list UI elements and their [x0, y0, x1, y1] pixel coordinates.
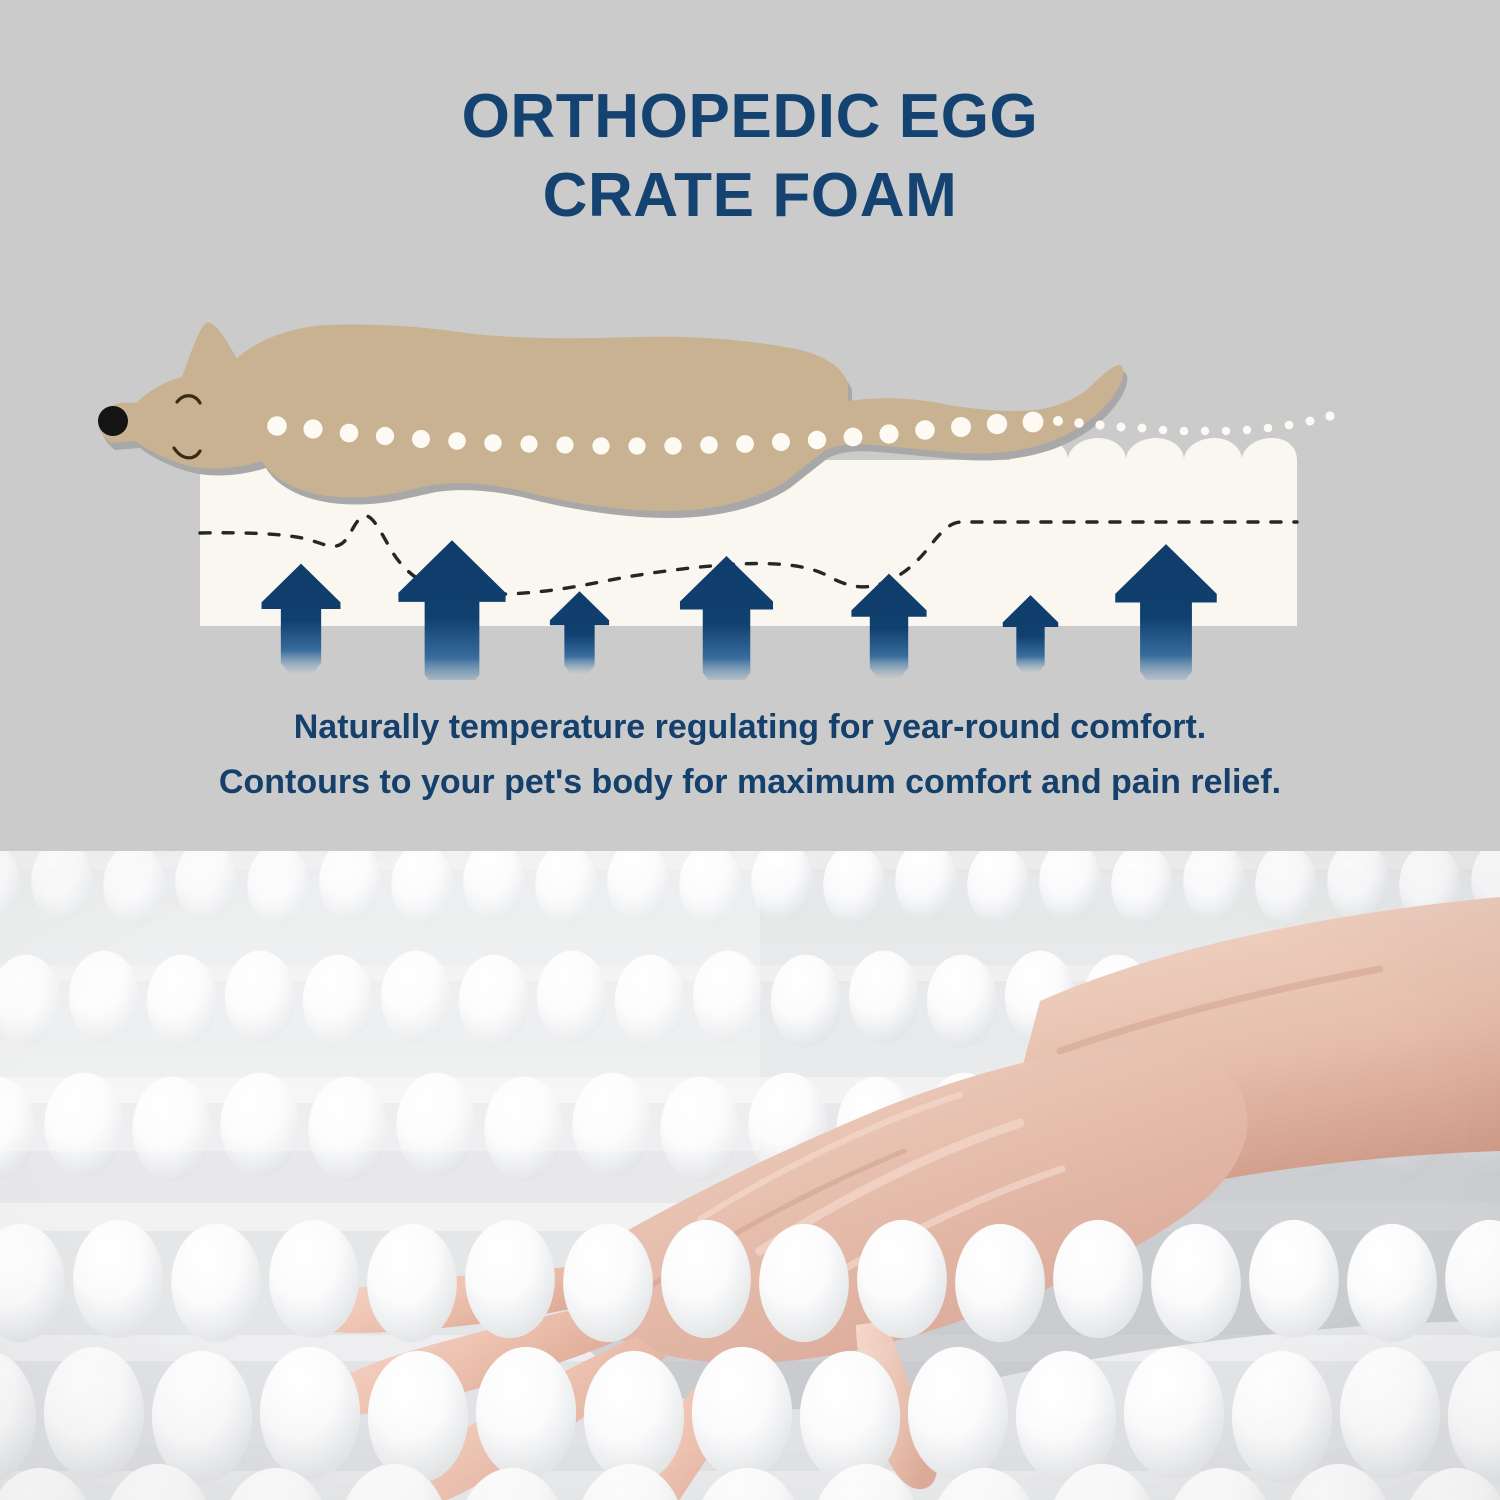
- product-photo: [0, 851, 1500, 1500]
- foam-photo-scene: [0, 851, 1500, 1500]
- headline-line-2: CRATE FOAM: [0, 157, 1500, 236]
- dog-nose: [98, 406, 128, 436]
- product-feature-graphic: ORTHOPEDIC EGG CRATE FOAM: [0, 0, 1500, 1500]
- foam-support-illustration: [0, 300, 1500, 680]
- info-panel: ORTHOPEDIC EGG CRATE FOAM: [0, 0, 1500, 851]
- caption-line-1: Naturally temperature regulating for yea…: [0, 700, 1500, 755]
- caption-line-2: Contours to your pet's body for maximum …: [0, 755, 1500, 810]
- page-title: ORTHOPEDIC EGG CRATE FOAM: [0, 78, 1500, 235]
- headline-line-1: ORTHOPEDIC EGG: [0, 78, 1500, 157]
- feature-caption: Naturally temperature regulating for yea…: [0, 700, 1500, 810]
